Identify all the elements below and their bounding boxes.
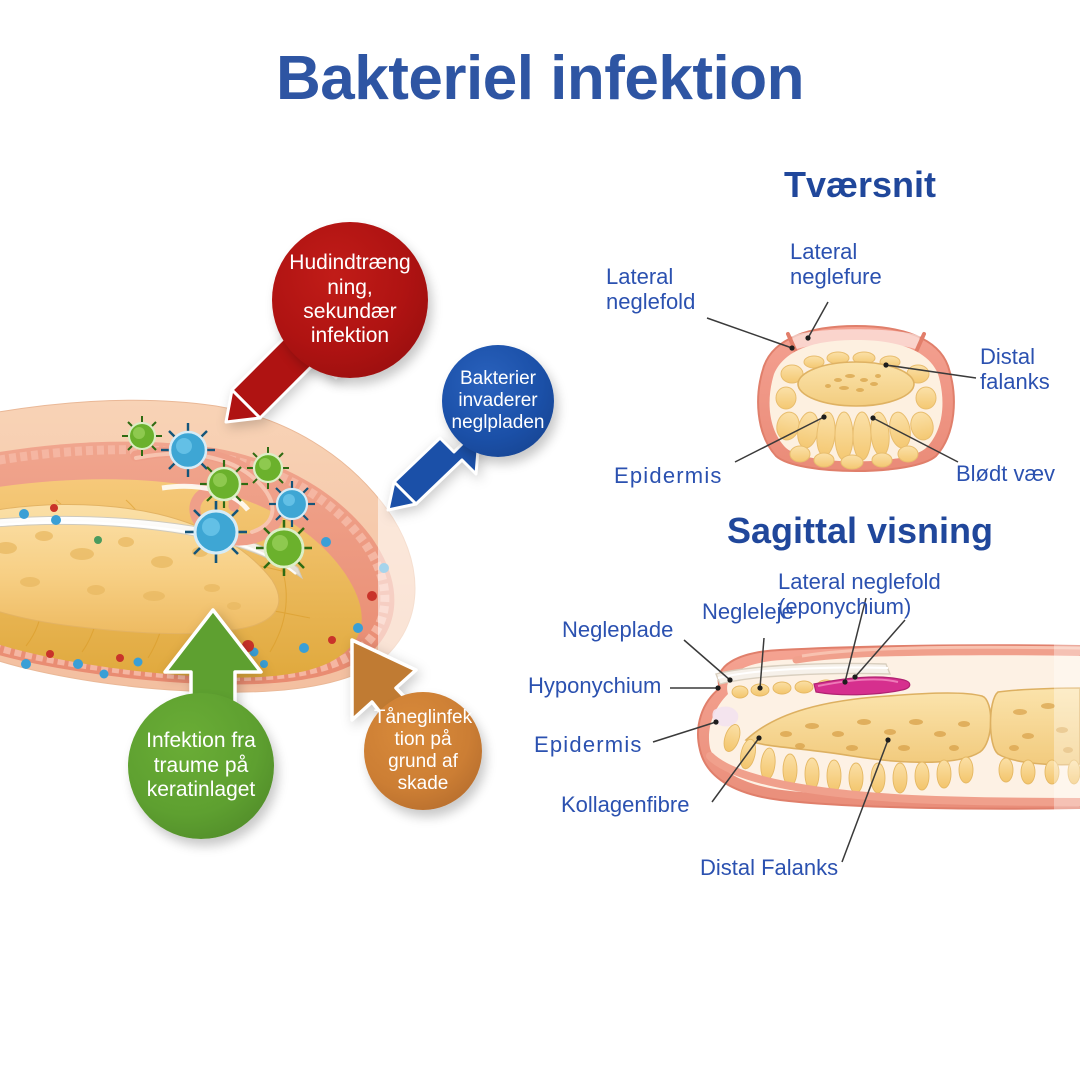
sagittal-illustration bbox=[676, 630, 1080, 820]
label-epidermis-cross: Epidermis bbox=[614, 464, 723, 489]
cross-section-illustration bbox=[752, 322, 960, 478]
cross-section-heading: Tværsnit bbox=[700, 164, 1020, 206]
label-lateral-neglefold-cross: Lateral neglefold bbox=[606, 265, 695, 314]
sagittal-heading: Sagittal visning bbox=[640, 510, 1080, 552]
label-bloedt-vaev: Blødt væv bbox=[956, 462, 1055, 487]
label-negleplade: Negleplade bbox=[562, 618, 673, 643]
label-hyponychium: Hyponychium bbox=[528, 674, 661, 699]
label-eponychium: Lateral neglefold (eponychium) bbox=[778, 570, 941, 619]
page-title: Bakteriel infektion bbox=[0, 46, 1080, 111]
callout-bubble-bacteria-invade[interactable]: Bakterier invaderer neglpladen bbox=[442, 345, 554, 457]
callout-bubble-skin-penetration[interactable]: Hudindtræng ning, sekundær infektion bbox=[272, 222, 428, 378]
label-distal-falanks-cross: Distal falanks bbox=[980, 345, 1050, 394]
label-distal-falanks-sagittal: Distal Falanks bbox=[700, 856, 838, 881]
callout-bubble-trauma-infection[interactable]: Infektion fra traume på keratinlaget bbox=[128, 693, 274, 839]
label-lateral-neglefure: Lateral neglefure bbox=[790, 240, 882, 289]
diagram-canvas: Bakteriel infektion bbox=[0, 0, 1080, 1080]
label-epidermis-sagittal: Epidermis bbox=[534, 733, 643, 758]
callout-bubble-toenail-injury[interactable]: Tåneglinfek tion på grund af skade bbox=[364, 692, 482, 810]
label-kollagenfibre: Kollagenfibre bbox=[561, 793, 689, 818]
